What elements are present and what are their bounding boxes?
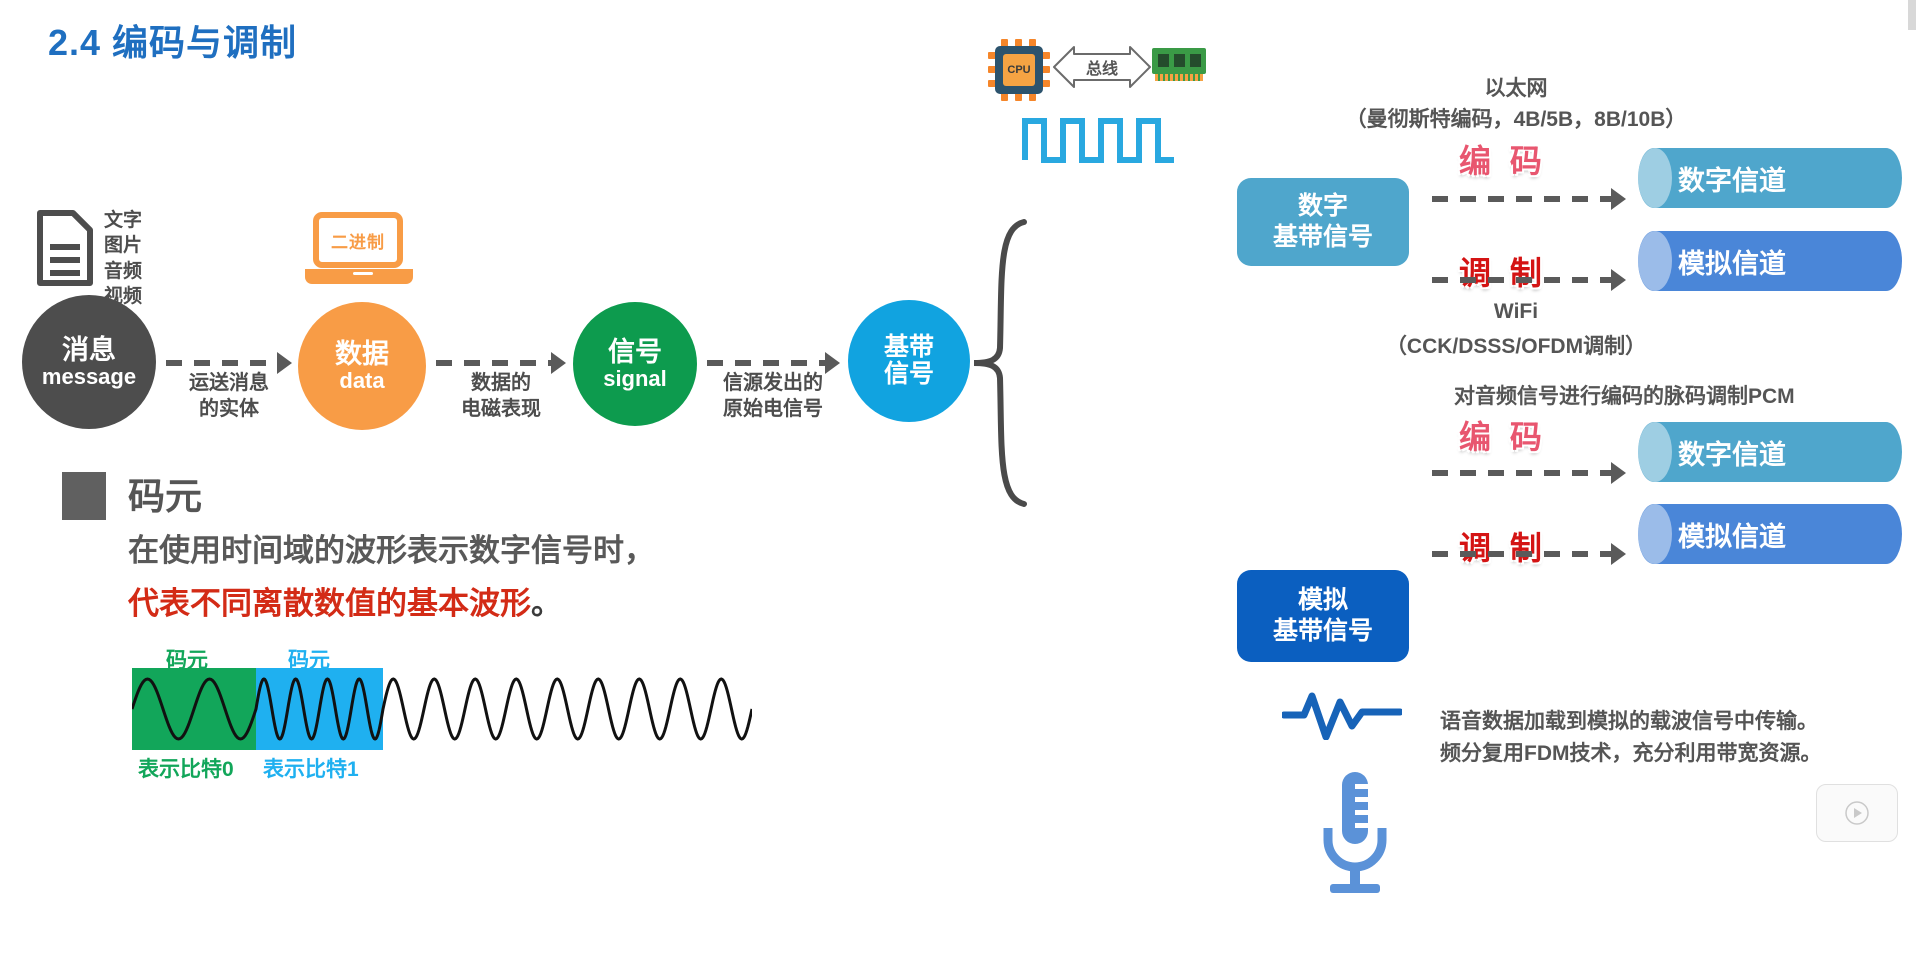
dash-line xyxy=(166,360,277,366)
page-title: 2.4 编码与调制 xyxy=(48,14,297,66)
label-line: 电磁表现 xyxy=(436,396,566,422)
encode-label-group1: 编 码 xyxy=(1459,136,1547,182)
box-line1: 数字 xyxy=(1298,191,1348,222)
box-line2: 基带信号 xyxy=(1273,222,1373,253)
cylinder-label: 数字信道 xyxy=(1678,159,1786,198)
dash-line xyxy=(707,360,825,366)
ram-teeth xyxy=(1155,74,1203,81)
bullet-square xyxy=(62,472,106,520)
digital-channel-cylinder-group1[interactable]: 数字信道 xyxy=(1638,148,1902,208)
ethernet-title: 以太网 xyxy=(1485,72,1548,102)
laptop-notch xyxy=(353,272,373,275)
square-wave-icon xyxy=(1022,115,1177,163)
cpu-icon: CPU xyxy=(988,39,1050,101)
label-line: 原始电信号 xyxy=(700,396,846,422)
flow-arrow-1 xyxy=(166,360,292,366)
message-kind: 音频 xyxy=(104,259,142,284)
message-kind: 图片 xyxy=(104,233,142,258)
bus-label-wrap: 总线 xyxy=(1052,44,1152,90)
digital-baseband-signal-box[interactable]: 数字 基带信号 xyxy=(1237,178,1409,266)
scrollbar-edge[interactable] xyxy=(1908,0,1916,30)
laptop-screen-label: 二进制 xyxy=(331,228,385,253)
footer-line2: 频分复用FDM技术，充分利用带宽资源。 xyxy=(1440,737,1822,767)
flow-node-label-en: data xyxy=(339,369,384,393)
code-element-heading: 码元 xyxy=(128,466,202,520)
flow-node-label-cn: 数据 xyxy=(335,340,389,369)
label-line: 运送消息 xyxy=(166,370,292,396)
play-button[interactable] xyxy=(1816,784,1898,842)
analog-channel-cylinder-group2[interactable]: 模拟信道 xyxy=(1638,504,1902,564)
arrow-head xyxy=(1611,543,1626,565)
microphone-icon xyxy=(1318,770,1392,898)
dash-line xyxy=(436,360,551,366)
arrow-head xyxy=(1611,188,1626,210)
modulate-label-group2: 调 制 xyxy=(1459,523,1547,569)
code-element-line2-tail: 。 xyxy=(531,586,562,621)
encode-arrow-group2 xyxy=(1432,470,1626,476)
flow-node-label-cn: 基带 xyxy=(884,334,934,361)
cpu-core-label: CPU xyxy=(1003,54,1035,86)
code-element-line2-red: 代表不同离散数值的基本波形 xyxy=(128,586,531,621)
modulate-arrow-group1 xyxy=(1432,277,1626,283)
label-line: 的实体 xyxy=(166,396,292,422)
message-kinds-list: 文字 图片 音频 视频 xyxy=(104,208,142,309)
flow-node-label-cn: 消息 xyxy=(62,336,116,365)
modulate-arrow-group2 xyxy=(1432,551,1626,557)
cylinder-label: 模拟信道 xyxy=(1678,515,1786,554)
arrow-head xyxy=(1611,462,1626,484)
flow-node-label-en: message xyxy=(42,365,136,389)
audio-waveform-icon xyxy=(1282,688,1402,740)
code-element-line1: 在使用时间域的波形表示数字信号时， xyxy=(128,525,655,570)
play-icon xyxy=(1844,800,1870,826)
modulate-label-group1: 调 制 xyxy=(1459,248,1547,294)
cylinder-label: 数字信道 xyxy=(1678,433,1786,472)
encode-label-group2: 编 码 xyxy=(1459,412,1547,458)
message-kind: 文字 xyxy=(104,208,142,233)
analog-baseband-signal-box[interactable]: 模拟 基带信号 xyxy=(1237,570,1409,662)
flow-node-baseband[interactable]: 基带 信号 xyxy=(848,300,970,422)
arrow-head xyxy=(1611,269,1626,291)
flow-arrow-2 xyxy=(436,360,566,366)
flow-arrow-3 xyxy=(707,360,840,366)
pcm-note: 对音频信号进行编码的脉码调制PCM xyxy=(1454,380,1795,410)
dash-line xyxy=(1432,551,1611,557)
flow-arrow-label-2: 数据的 电磁表现 xyxy=(436,370,566,422)
flow-node-label-cn2: 信号 xyxy=(884,361,934,388)
cylinder-label: 模拟信道 xyxy=(1678,242,1786,281)
wave-caption-bit1: 表示比特1 xyxy=(263,753,359,783)
laptop-screen: 二进制 xyxy=(313,212,403,268)
ethernet-detail: （曼彻斯特编码，4B/5B，8B/10B） xyxy=(1346,103,1687,133)
dash-line xyxy=(1432,196,1611,202)
flow-node-signal[interactable]: 信号 signal xyxy=(573,302,697,426)
label-line: 数据的 xyxy=(436,370,566,396)
bus-label: 总线 xyxy=(1052,44,1152,90)
wifi-title: WiFi xyxy=(1494,300,1538,324)
wifi-detail: （CCK/DSSS/OFDM调制） xyxy=(1386,330,1646,360)
flow-arrow-label-3: 信源发出的 原始电信号 xyxy=(700,370,846,422)
box-line2: 基带信号 xyxy=(1273,616,1373,647)
flow-node-label-cn: 信号 xyxy=(608,338,662,367)
dash-line xyxy=(1432,277,1611,283)
document-icon xyxy=(36,210,94,286)
code-element-line2: 代表不同离散数值的基本波形。 xyxy=(128,578,562,623)
digital-channel-cylinder-group2[interactable]: 数字信道 xyxy=(1638,422,1902,482)
flow-node-data[interactable]: 数据 data xyxy=(298,302,426,430)
flow-node-message[interactable]: 消息 message xyxy=(22,295,156,429)
box-line1: 模拟 xyxy=(1298,585,1348,616)
curly-brace xyxy=(968,218,1032,508)
wave-caption-bit0: 表示比特0 xyxy=(138,753,234,783)
sine-waveform xyxy=(132,668,752,750)
analog-channel-cylinder-group1[interactable]: 模拟信道 xyxy=(1638,231,1902,291)
label-line: 信源发出的 xyxy=(700,370,846,396)
flow-arrow-label-1: 运送消息 的实体 xyxy=(166,370,292,422)
footer-line1: 语音数据加载到模拟的载波信号中传输。 xyxy=(1440,705,1818,735)
encode-arrow-group1 xyxy=(1432,196,1626,202)
ram-icon xyxy=(1152,48,1206,82)
flow-node-label-en: signal xyxy=(603,367,667,391)
dash-line xyxy=(1432,470,1611,476)
laptop-icon: 二进制 xyxy=(313,212,409,280)
